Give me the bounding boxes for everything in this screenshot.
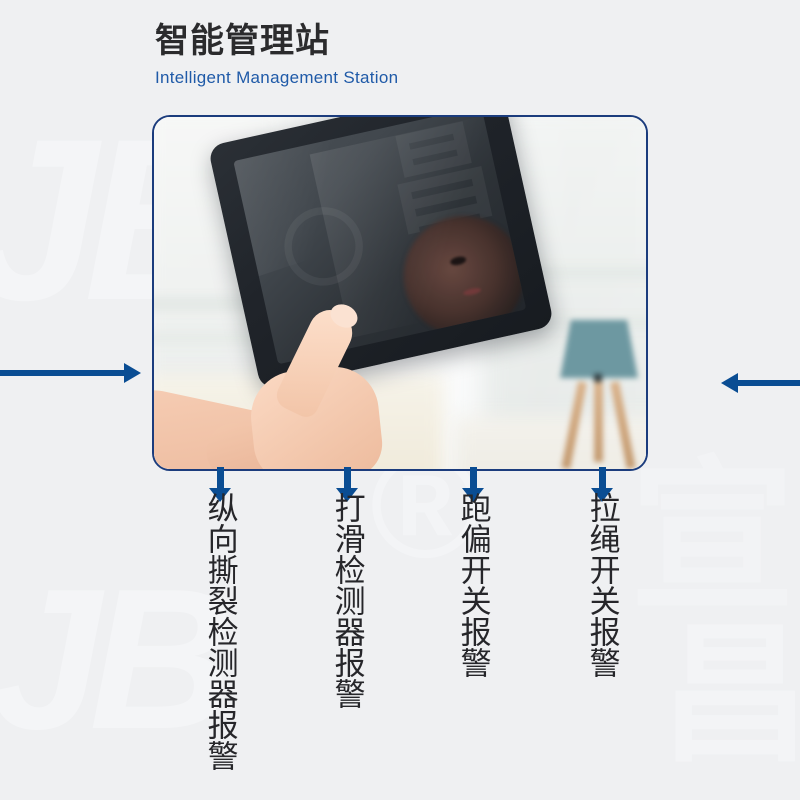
floor-lamp — [544, 312, 646, 469]
connector-arrow-3 — [470, 467, 477, 489]
page-title-en: Intelligent Management Station — [155, 68, 398, 88]
watermark-cn-mark-3: 昌 — [660, 620, 800, 770]
feature-label-1: 纵向撕裂检测器报警 — [204, 492, 236, 771]
right-pointer-arrow — [738, 380, 800, 386]
product-photo-card: ○ 昌 — [152, 115, 648, 471]
lamp-leg-right — [610, 381, 636, 469]
left-pointer-arrow — [0, 370, 125, 376]
connector-arrow-2 — [344, 467, 351, 489]
lamp-shade — [560, 320, 638, 378]
page-title-cn: 智能管理站 — [155, 22, 398, 61]
feature-label-2: 打滑检测器报警 — [331, 492, 363, 709]
arrow-right-icon — [124, 363, 141, 383]
feature-label-4: 拉绳开关报警 — [586, 492, 618, 678]
tablet-photo: ○ 昌 — [154, 117, 646, 469]
connector-arrow-1 — [217, 467, 224, 489]
arrow-left-icon — [721, 373, 738, 393]
watermark-brand-mark-2: JB — [0, 560, 222, 760]
feature-label-3: 跑偏开关报警 — [457, 492, 489, 678]
hand-holding-tablet — [154, 307, 444, 469]
watermark-cn-mark-2: 宣 — [630, 455, 795, 620]
page-header: 智能管理站 Intelligent Management Station — [155, 22, 398, 88]
lamp-leg-left — [561, 381, 587, 469]
lamp-leg-center — [594, 382, 603, 462]
connector-arrow-4 — [599, 467, 606, 489]
